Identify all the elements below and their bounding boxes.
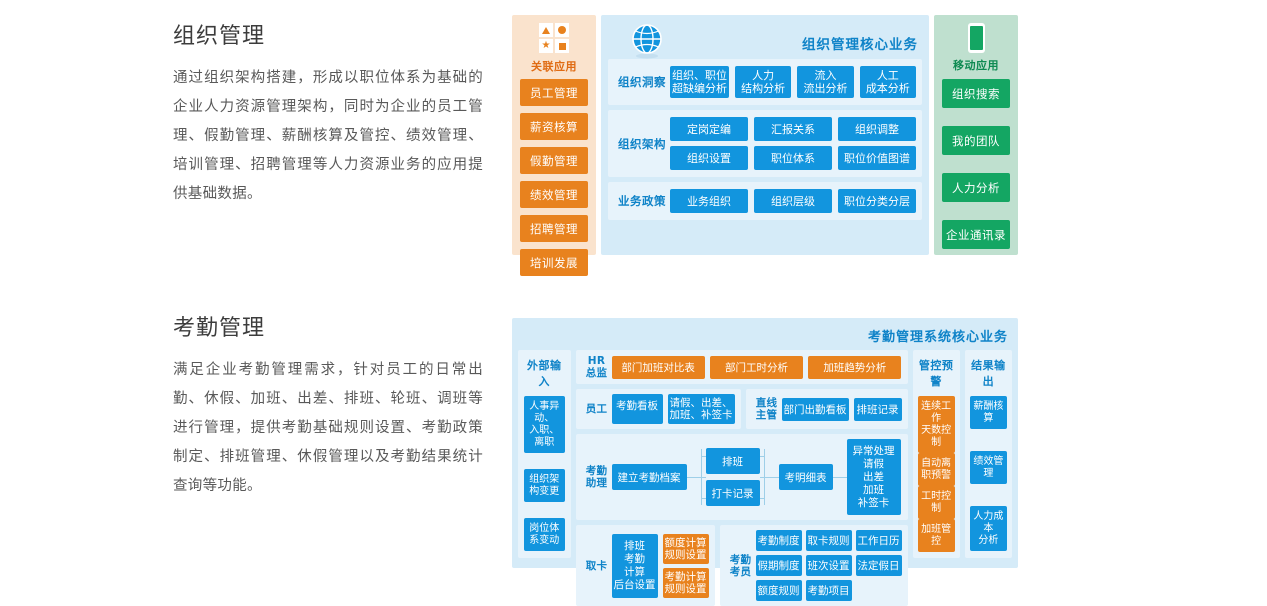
mobile-item-company-directory[interactable]: 企业通讯录 [942,220,1010,249]
band-organization-structure: 组织架构 定岗定编 汇报关系 组织调整 组织设置 职位体系 职位价值图谱 [608,110,922,177]
row-hr-director: HR 总监 部门加班对比表 部门工时分析 加班趋势分析 [576,350,908,384]
triangle-icon [539,23,553,37]
employee-item-attendance-board[interactable]: 考勤看板 [612,394,663,424]
related-applications-heading: 关联应用 [531,58,577,74]
mobile-item-workforce-analysis[interactable]: 人力分析 [942,173,1010,202]
app-item-employee-management[interactable]: 员工管理 [520,79,588,106]
row-label-hr-director: HR 总监 [582,355,612,379]
policy-item-business-org[interactable]: 业务组织 [670,189,748,213]
external-item-personnel-change[interactable]: 人事异动、 入职、离职 [524,396,565,453]
band-label-policy: 业务政策 [614,193,670,209]
cell-line1: 考勤计算 [665,571,707,583]
examiner-item-shift-setup[interactable]: 班次设置 [806,555,852,576]
result-line5: 补签卡 [858,497,890,509]
card-line3: 计算 [614,566,656,579]
section-organization-text: 组织管理 通过组织架构搭建，形成以职位体系为基础的企业人力资源管理架构，同时为企… [173,18,483,209]
warning-item-worktime-control[interactable]: 工时控制 [918,486,955,519]
row-label-supervisor: 直线 主管 [752,397,782,421]
structure-item-org-adjustment[interactable]: 组织调整 [838,117,916,141]
insight-item-org-position-headcount[interactable]: 组织、职位 超缺编分析 [670,66,729,98]
examiner-item-leave-policy[interactable]: 假期制度 [756,555,802,576]
section-body-attendance: 满足企业考勤管理需求，针对员工的日常出勤、休假、加班、出差、排班、轮班、调班等进… [173,356,483,501]
tile-line1: 人力成本 [973,511,1003,534]
flow-branch-connector [697,439,706,515]
examiner-item-attendance-project[interactable]: 考勤项目 [806,580,852,601]
mobile-applications-heading: 移动应用 [953,57,999,73]
subrow-employee: 员工 考勤看板 请假、出差、 加班、补签卡 [576,389,741,429]
control-warning-heading: 管控预警 [918,357,955,389]
mobile-item-org-search[interactable]: 组织搜索 [942,79,1010,108]
diagram2-title: 考勤管理系统核心业务 [518,323,1012,350]
tile-line2: 天数控制 [921,425,951,448]
band-label-structure: 组织架构 [614,136,670,152]
output-item-performance-management[interactable]: 绩效管理 [970,451,1007,484]
mobile-item-my-team[interactable]: 我的团队 [942,126,1010,155]
app-item-performance[interactable]: 绩效管理 [520,181,588,208]
result-output-heading: 结果输出 [970,357,1007,389]
band-label-insight: 组织洞察 [614,74,670,90]
tile-line1: 自动离 [921,458,951,469]
result-line3: 出差 [863,471,884,483]
label-line2: 总监 [586,367,608,379]
flow-merge-connector [760,439,769,515]
app-item-training[interactable]: 培训发展 [520,249,588,276]
organization-core-business-panel: 组织管理核心业务 组织洞察 组织、职位 超缺编分析 人力 结构分析 流入 [601,15,929,255]
supervisor-item-shift-record[interactable]: 排班记录 [854,398,902,421]
examiner-item-statutory-holiday[interactable]: 法定假日 [856,555,902,576]
section-attendance-text: 考勤管理 满足企业考勤管理需求，针对员工的日常出勤、休假、加班、出差、排班、轮班… [173,310,483,501]
hr-item-dept-worktime-analysis[interactable]: 部门工时分析 [710,356,803,379]
warning-item-auto-resignation-alert[interactable]: 自动离 职预警 [918,453,955,486]
app-item-leave-attendance[interactable]: 假勤管理 [520,147,588,174]
label-line2: 主管 [756,409,778,421]
row-card-examiner: 取卡 排班 考勤 计算 后台设置 额度计算 规则设置 [576,525,908,606]
cell-line1: 人力 [752,69,774,82]
output-item-payroll-accounting[interactable]: 薪酬核算 [970,396,1007,429]
tile-line2: 分析 [978,535,998,546]
globe-icon [630,23,664,63]
card-line4: 后台设置 [614,579,656,592]
card-line1: 排班 [614,540,656,553]
row-attendance-assistant: 考勤 助理 建立考勤档案 排班 打卡记录 [576,434,908,520]
flow-node-create-attendance-file[interactable]: 建立考勤档案 [612,464,687,490]
cell-line1: 人工 [877,69,899,82]
subrow-card: 取卡 排班 考勤 计算 后台设置 额度计算 规则设置 [576,525,715,606]
row-employee-supervisor: 员工 考勤看板 请假、出差、 加班、补签卡 直线 主管 [576,389,908,429]
cell-line1: 流入 [814,69,836,82]
flow-node-attendance-detail[interactable]: 考明细表 [779,464,833,490]
band-organization-insight: 组织洞察 组织、职位 超缺编分析 人力 结构分析 流入 流出分析 [608,59,922,105]
label-line1: 考勤 [586,465,608,477]
row-label-employee: 员工 [582,403,612,415]
tile-line1: 连续工作 [921,401,951,424]
page-title-attendance: 考勤管理 [173,310,483,342]
external-input-heading: 外部输入 [524,357,565,389]
examiner-item-quota-rule[interactable]: 额度规则 [756,580,802,601]
warning-item-overtime-control[interactable]: 加班管控 [918,519,955,552]
result-line4: 加班 [863,484,884,496]
result-line2: 请假 [863,458,884,470]
card-item-backend-settings[interactable]: 排班 考勤 计算 后台设置 [612,534,658,598]
cell-line2: 加班、补签卡 [670,409,733,421]
external-input-column: 外部输入 人事异动、 入职、离职 组织架构变更 岗位体系变动 [518,350,571,558]
output-item-labor-cost-analysis[interactable]: 人力成本 分析 [970,506,1007,551]
card-item-quota-calc-rule[interactable]: 额度计算 规则设置 [663,534,709,564]
attendance-management-diagram: 考勤管理系统核心业务 外部输入 人事异动、 入职、离职 组织架构变更 岗位体系变… [512,318,1018,568]
diagram1-title: 组织管理核心业务 [802,33,918,53]
employee-item-leave-travel-overtime[interactable]: 请假、出差、 加班、补签卡 [668,394,735,424]
supervisor-item-dept-attendance-board[interactable]: 部门出勤看板 [782,398,849,421]
hr-item-dept-overtime-comparison[interactable]: 部门加班对比表 [612,356,705,379]
square-icon [555,39,569,53]
insight-item-inflow-outflow[interactable]: 流入 流出分析 [797,66,853,98]
star-icon: ★ [539,39,553,53]
insight-item-workforce-structure[interactable]: 人力 结构分析 [735,66,791,98]
page-title-organization: 组织管理 [173,18,483,50]
tile-line2: 入职、离职 [529,425,559,448]
policy-item-org-level[interactable]: 组织层级 [754,189,832,213]
app-item-recruitment[interactable]: 招聘管理 [520,215,588,242]
mobile-phone-icon [968,23,985,53]
examiner-item-card-rule[interactable]: 取卡规则 [806,530,852,551]
label-line1: HR [588,355,605,367]
cell-line2: 成本分析 [866,82,910,95]
result-line1: 异常处理 [853,445,895,457]
flow-node-shift-scheduling[interactable]: 排班 [706,448,760,474]
shapes-grid-icon: ★ [539,23,569,53]
control-warning-column: 管控预警 连续工作 天数控制 自动离 职预警 工时控制 加班管控 [913,350,960,558]
insight-item-labor-cost[interactable]: 人工 成本分析 [860,66,916,98]
cell-line2: 规则设置 [665,583,707,595]
app-item-payroll[interactable]: 薪资核算 [520,113,588,140]
label-line1: 考勤 [730,554,752,566]
subrow-examiner: 考勤 考员 考勤制度 取卡规则 工作日历 假期制度 班次设置 法定假日 额度规则… [720,525,908,606]
band-business-policy: 业务政策 业务组织 组织层级 职位分类分层 [608,182,922,220]
attendance-main-column: HR 总监 部门加班对比表 部门工时分析 加班趋势分析 员工 考勤看板 请假、出… [576,350,908,558]
cell-line2: 规则设置 [665,549,707,561]
circle-icon [555,23,569,37]
label-line2: 考员 [730,566,752,578]
cell-line1: 额度计算 [665,537,707,549]
label-line2: 助理 [586,477,608,489]
examiner-item-work-calendar[interactable]: 工作日历 [856,530,902,551]
organization-management-diagram: ★ 关联应用 员工管理 薪资核算 假勤管理 绩效管理 招聘管理 培训发展 [512,15,1018,255]
section-body-organization: 通过组织架构搭建，形成以职位体系为基础的企业人力资源管理架构，同时为企业的员工管… [173,64,483,209]
related-applications-panel: ★ 关联应用 员工管理 薪资核算 假勤管理 绩效管理 招聘管理 培训发展 [512,15,596,255]
examiner-item-attendance-policy[interactable]: 考勤制度 [756,530,802,551]
panel-header: 组织管理核心业务 [608,21,922,59]
warning-item-continuous-work-days[interactable]: 连续工作 天数控制 [918,396,955,453]
result-output-column: 结果输出 薪酬核算 绩效管理 人力成本 分析 [965,350,1012,558]
structure-item-position-value-map[interactable]: 职位价值图谱 [838,146,916,170]
external-item-position-system-change[interactable]: 岗位体系变动 [524,518,565,551]
mobile-applications-panel: 移动应用 组织搜索 我的团队 人力分析 企业通讯录 [934,15,1018,255]
tile-line1: 人事异动、 [529,401,559,424]
structure-item-org-setup[interactable]: 组织设置 [670,146,748,170]
tile-line2: 职预警 [921,470,951,481]
row-label-examiner: 考勤 考员 [726,554,756,578]
cell-line2: 超缺编分析 [672,82,727,95]
label-line1: 直线 [756,397,778,409]
structure-item-job-establishment[interactable]: 定岗定编 [670,117,748,141]
policy-item-position-classification[interactable]: 职位分类分层 [838,189,916,213]
card-line2: 考勤 [614,553,656,566]
row-label-assistant: 考勤 助理 [582,465,612,489]
cell-line2: 流出分析 [803,82,847,95]
hr-item-overtime-trend-analysis[interactable]: 加班趋势分析 [808,356,901,379]
subrow-supervisor: 直线 主管 部门出勤看板 排班记录 [746,389,908,429]
external-item-org-structure-change[interactable]: 组织架构变更 [524,469,565,502]
cell-line1: 组织、职位 [672,69,727,82]
cell-line1: 请假、出差、 [670,397,733,409]
flow-node-exception-results[interactable]: 异常处理 请假 出差 加班 补签卡 [847,439,901,515]
structure-item-position-system[interactable]: 职位体系 [754,146,832,170]
card-item-attendance-calc-rule[interactable]: 考勤计算 规则设置 [663,568,709,598]
structure-item-reporting-relation[interactable]: 汇报关系 [754,117,832,141]
cell-line2: 结构分析 [741,82,785,95]
flow-node-punch-record[interactable]: 打卡记录 [706,480,760,506]
